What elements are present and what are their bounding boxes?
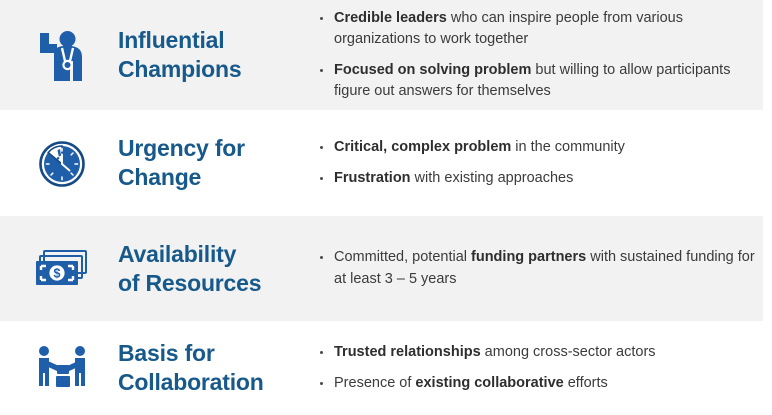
bullet-bold: existing collaborative: [415, 375, 563, 391]
list-item: Presence of existing collaborative effor…: [318, 373, 758, 394]
title-line-1: Basis for: [118, 339, 318, 368]
bullet-bold: Focused on solving problem: [334, 62, 531, 78]
row-title-availability-of-resources: Availability of Resources: [118, 240, 318, 298]
bullet-bold: Frustration: [334, 170, 411, 186]
row-bullets-availability-of-resources: Committed, potential funding partners wi…: [318, 247, 772, 289]
row-title-urgency-for-change: Urgency for Change: [118, 134, 318, 192]
row-basis-for-collaboration: Basis for Collaboration Trusted relation…: [0, 321, 772, 415]
bullet-pre: Presence of: [334, 375, 415, 391]
title-line-2: Collaboration: [118, 368, 318, 397]
title-line-2: of Resources: [118, 269, 318, 298]
list-item: Credible leaders who can inspire people …: [318, 8, 758, 50]
bullet-bold: funding partners: [471, 249, 586, 265]
list-item: Critical, complex problem in the communi…: [318, 137, 758, 158]
list-item: Committed, potential funding partners wi…: [318, 247, 758, 289]
row-bullets-influential-champions: Credible leaders who can inspire people …: [318, 8, 772, 101]
svg-text:$: $: [54, 266, 61, 280]
bullet-rest: efforts: [564, 375, 608, 391]
bullet-pre: Committed, potential: [334, 249, 471, 265]
champion-medal-person-icon: [0, 26, 118, 84]
bullet-bold: Critical, complex problem: [334, 139, 511, 155]
slide-root: Influential Champions Credible leaders w…: [0, 0, 772, 415]
money-banknotes-icon: $: [0, 245, 118, 293]
row-influential-champions: Influential Champions Credible leaders w…: [0, 0, 772, 110]
handshake-collaboration-icon: [0, 343, 118, 393]
row-title-influential-champions: Influential Champions: [118, 26, 318, 84]
title-line-2: Champions: [118, 55, 318, 84]
row-bullets-urgency-for-change: Critical, complex problem in the communi…: [318, 137, 772, 188]
row-availability-of-resources: $ Availability of Resources Committed, p…: [0, 216, 772, 321]
list-item: Frustration with existing approaches: [318, 168, 758, 189]
title-line-1: Influential: [118, 26, 318, 55]
bullet-rest: in the community: [511, 139, 625, 155]
row-urgency-for-change: Urgency for Change Critical, complex pro…: [0, 110, 772, 216]
title-line-1: Urgency for: [118, 134, 318, 163]
row-bullets-basis-for-collaboration: Trusted relationships among cross-sector…: [318, 342, 772, 393]
list-item: Trusted relationships among cross-sector…: [318, 342, 758, 363]
bullet-rest: with existing approaches: [411, 170, 574, 186]
clock-urgency-icon: [0, 136, 118, 190]
row-title-basis-for-collaboration: Basis for Collaboration: [118, 339, 318, 397]
bullet-rest: among cross-sector actors: [481, 344, 656, 360]
bullet-bold: Trusted relationships: [334, 344, 481, 360]
title-line-1: Availability: [118, 240, 318, 269]
title-line-2: Change: [118, 163, 318, 192]
bullet-bold: Credible leaders: [334, 10, 447, 26]
list-item: Focused on solving problem but willing t…: [318, 60, 758, 102]
